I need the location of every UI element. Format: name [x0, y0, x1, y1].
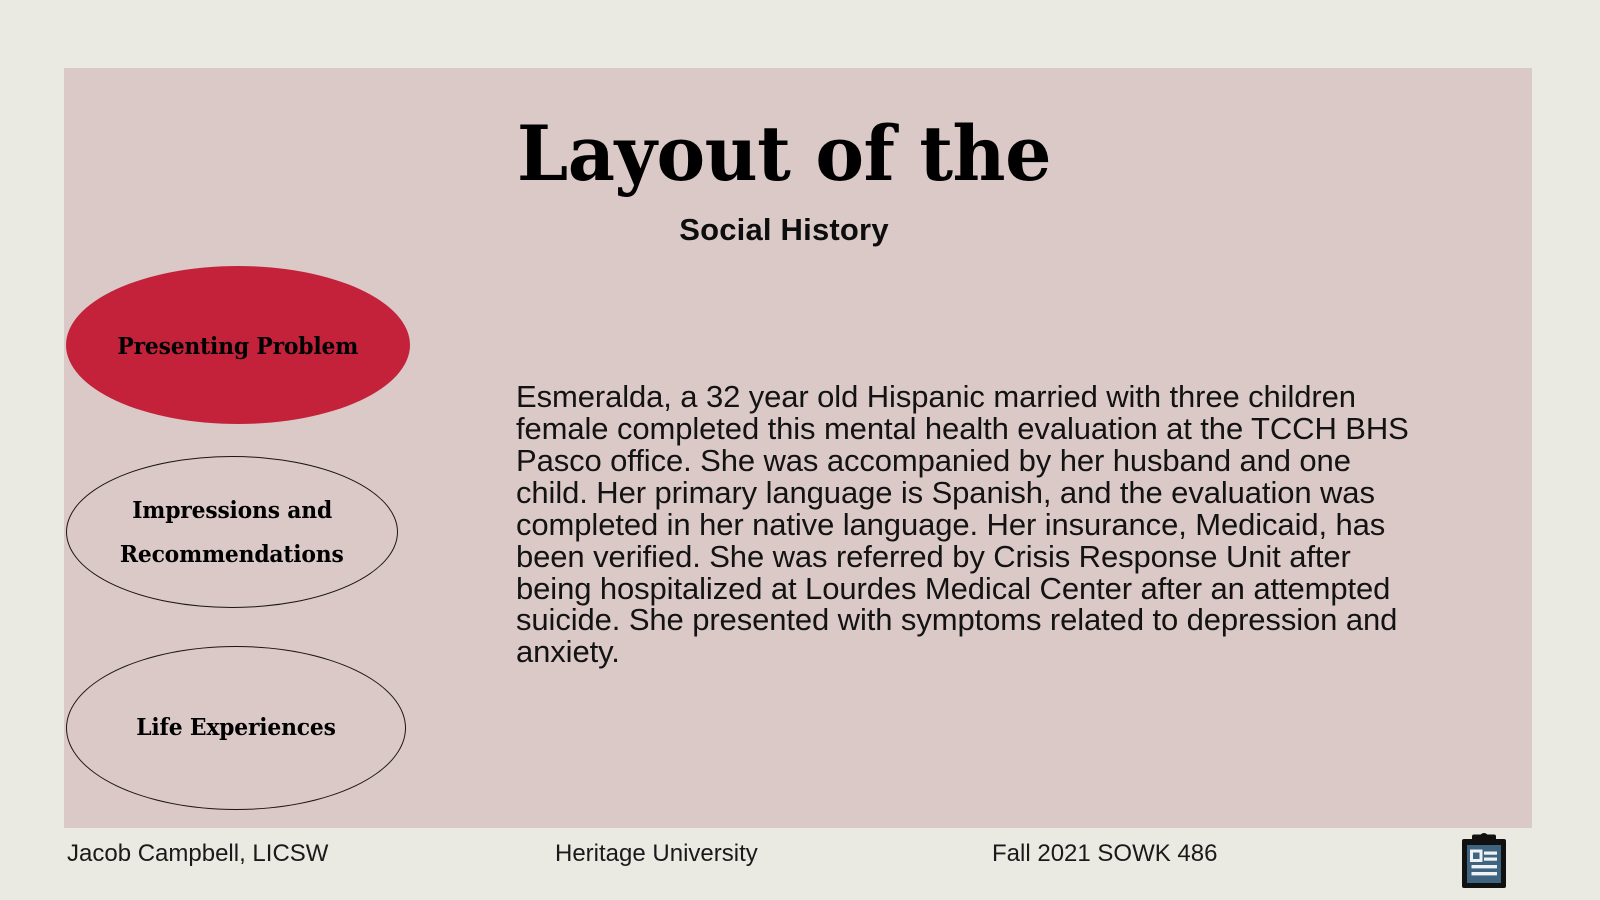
ellipse-label: Life Experiences — [136, 716, 336, 739]
slide-footer: Jacob Campbell, LICSW Heritage Universit… — [0, 832, 1600, 900]
ellipse-label: Presenting Problem — [118, 335, 359, 358]
ellipse-presenting-problem[interactable]: Presenting Problem — [66, 266, 410, 424]
ellipse-impressions-and-recommendations[interactable]: Impressions and Recommendations — [66, 456, 398, 608]
case-vignette-paragraph: Esmeralda, a 32 year old Hispanic marrie… — [516, 381, 1428, 668]
page-title: Layout of the — [93, 116, 1475, 192]
social-history-diagram: Presenting Problem Impressions and Recom… — [64, 266, 422, 826]
footer-course: Fall 2021 SOWK 486 — [992, 840, 1217, 868]
footer-organization: Heritage University — [555, 840, 758, 868]
ellipse-label: Recommendations — [120, 543, 344, 566]
slide-panel: Layout of the Social History Presenting … — [64, 68, 1532, 828]
page-subtitle: Social History — [64, 214, 1504, 245]
ellipse-life-experiences[interactable]: Life Experiences — [66, 646, 406, 810]
ellipse-label: Impressions and — [132, 499, 332, 522]
clipboard-icon — [1459, 832, 1509, 890]
title-block: Layout of the Social History — [64, 116, 1504, 245]
footer-presenter: Jacob Campbell, LICSW — [67, 840, 328, 868]
